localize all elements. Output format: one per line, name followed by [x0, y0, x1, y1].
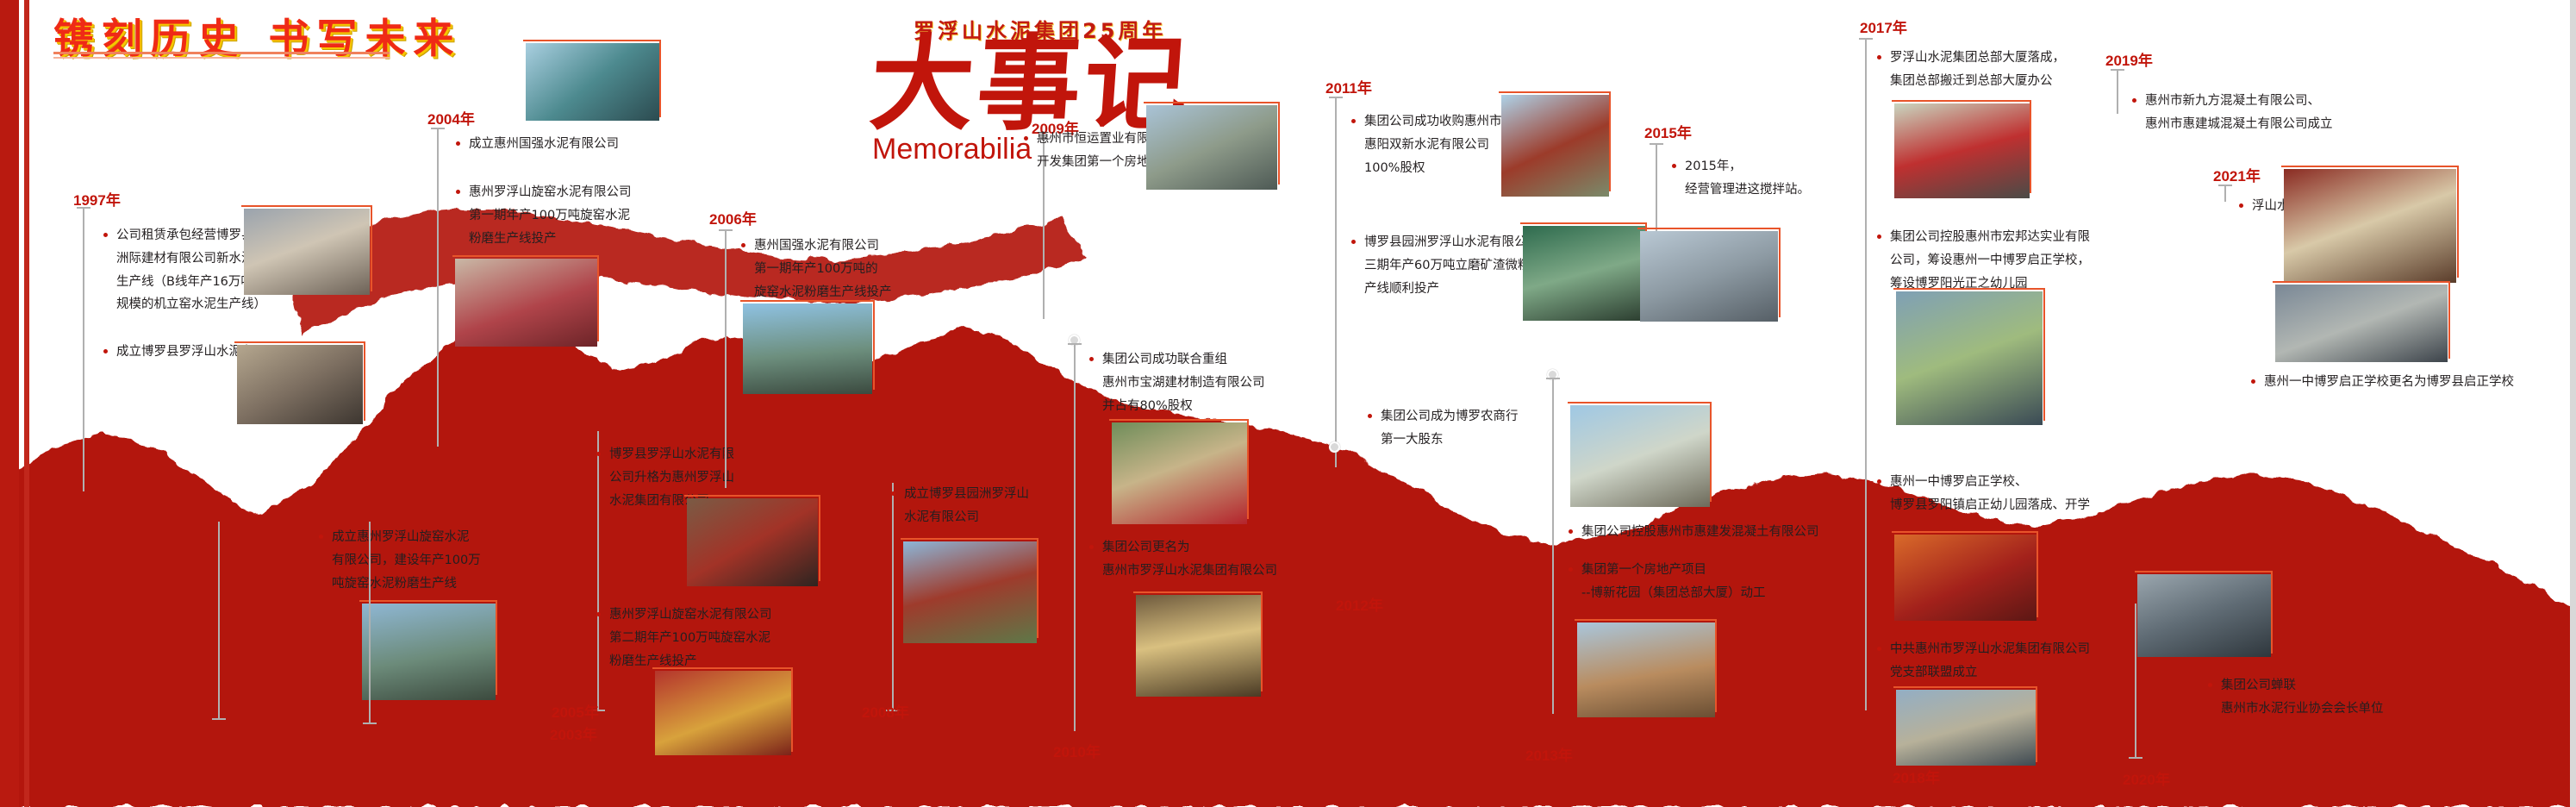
photo-2011-1 — [1523, 226, 1645, 321]
photo-2015-0 — [1640, 231, 1778, 322]
timeline-stem-2003b — [369, 522, 371, 724]
photo-2009-0 — [1146, 105, 1277, 190]
year-label-2021: 2021年 — [2213, 164, 2261, 185]
photo-2009-2 — [1136, 595, 1261, 697]
event-2018-1: 中共惠州市罗浮山水泥集团有限公司 党支部联盟成立 — [1875, 638, 2143, 685]
left-red-bar-inner — [24, 0, 29, 807]
photo-2009-1 — [1112, 422, 1247, 524]
timeline-stem-2009b — [1074, 343, 1076, 731]
photo-2006-0 — [743, 303, 872, 394]
year-label-2019: 2019年 — [2105, 48, 2153, 70]
right-separator — [2570, 0, 2576, 807]
event-2017-0: 罗浮山水泥集团总部大厦落成， 集团总部搬迁到总部大厦办公 — [1875, 47, 2134, 93]
title-english: Memorabilia — [872, 133, 1032, 166]
photo-2004-1 — [455, 259, 597, 347]
timeline-stem-1997 — [83, 207, 84, 491]
event-2008-0: 成立博罗县园洲罗浮山 水泥有限公司 — [889, 483, 1088, 529]
timeline-stem-2013 — [1552, 378, 1554, 714]
year-label-2008: 2008年 — [862, 700, 909, 722]
year-label-2015: 2015年 — [1644, 121, 1692, 142]
photo-2008-0 — [903, 541, 1037, 643]
photo-2011-0 — [1501, 95, 1609, 197]
event-2018-0: 惠州一中博罗启正学校、 博罗县罗阳镇启正幼儿园落成、开学 — [1875, 471, 2134, 517]
photo-2017-0 — [1894, 103, 2030, 198]
timeline-stem-2011 — [1335, 97, 1337, 467]
event-2021-1: 惠州一中博罗启正学校更名为博罗县启正学校 — [2249, 371, 2560, 394]
timeline-stem-2019 — [2117, 69, 2118, 114]
timeline-stem-2017 — [1865, 38, 1867, 710]
timeline-stem-2020 — [2135, 604, 2136, 759]
photo-1997-1 — [237, 345, 363, 424]
photo-2003-0 — [362, 604, 496, 700]
timeline-stem-2004 — [437, 128, 439, 447]
left-red-bar — [0, 0, 19, 807]
photo-2021-1 — [2275, 285, 2448, 362]
event-2004-0: 成立惠州国强水泥有限公司 — [454, 133, 704, 156]
poster-root: 镌刻历史 书写未来 罗浮山水泥集团25周年 大事记 Memorabilia 19… — [0, 0, 2576, 807]
year-label-2020: 2020年 — [2123, 767, 2170, 789]
photo-2005-0 — [687, 498, 818, 586]
year-label-2003: 2003年 — [550, 723, 597, 744]
event-2020-0: 集团公司蝉联 惠州市水泥行业协会会长单位 — [2206, 674, 2465, 721]
photo-2005-1 — [655, 671, 791, 755]
timeline-stem-2021 — [2224, 185, 2226, 202]
headline-rule — [53, 52, 390, 54]
photo-2004-0 — [526, 43, 659, 121]
year-label-2006: 2006年 — [709, 207, 757, 228]
photo-2017-1 — [1896, 291, 2043, 425]
event-2006-0: 惠州国强水泥有限公司 第一期年产100万吨的 旋窑水泥粉磨生产线投产 — [739, 235, 955, 303]
year-label-2011: 2011年 — [1325, 76, 1372, 97]
poster-headline: 镌刻历史 书写未来 — [53, 5, 461, 65]
year-label-2010: 2010年 — [1053, 740, 1101, 761]
event-2017-1: 集团公司控股惠州市宏邦达实业有限 公司，筹设惠州一中博罗启正学校， 筹设博罗阳光… — [1875, 226, 2151, 295]
event-2013-1: 集团第一个房地产项目 --博新花园（集团总部大厦）动工 — [1567, 559, 1851, 605]
photo-2018-1 — [1896, 690, 2036, 766]
event-2009-2: 集团公司更名为 惠州市罗浮山水泥集团有限公司 — [1088, 536, 1346, 583]
year-label-2012: 2012年 — [1336, 593, 1383, 615]
photo-1997-0 — [244, 209, 370, 295]
event-2012-0: 集团公司成为博罗农商行 第一大股东 — [1366, 405, 1564, 452]
year-label-2005: 2005年 — [552, 700, 599, 722]
event-2015-0: 2015年， 经营管理进这搅拌站。 — [1670, 155, 1868, 202]
event-2005-1: 惠州罗浮山旋窑水泥有限公司 第二期年产100万吨旋窑水泥 粉磨生产线投产 — [595, 604, 845, 672]
photo-2018-0 — [1894, 535, 2036, 621]
headline-rule-secondary — [53, 57, 390, 59]
event-2004-1: 惠州罗浮山旋窑水泥有限公司 第一期年产100万吨旋窑水泥 粉磨生产线投产 — [454, 181, 704, 250]
timeline-stem-2006 — [725, 229, 727, 488]
year-label-2017: 2017年 — [1860, 16, 1907, 37]
event-2009-1: 集团公司成功联合重组 惠州市宝湖建材制造有限公司 并占有80%股权 — [1088, 348, 1338, 417]
photo-2013-0 — [1570, 405, 1710, 507]
event-2019-0: 惠州市新九方混凝土有限公司、 惠州市惠建城混凝土有限公司成立 — [2130, 90, 2415, 136]
photo-2021-0 — [2284, 169, 2456, 283]
timeline-node-2012 — [1329, 441, 1340, 453]
timeline-stem-2003 — [218, 522, 220, 720]
photo-2013-1 — [1577, 622, 1715, 717]
year-label-2018: 2018年 — [1893, 766, 1940, 787]
year-label-2013: 2013年 — [1525, 743, 1573, 765]
year-label-2004: 2004年 — [427, 107, 475, 128]
event-2003-0: 成立惠州罗浮山旋窑水泥 有限公司，建设年产100万 吨旋窑水泥粉磨生产线 — [317, 526, 533, 595]
photo-2020-0 — [2137, 574, 2271, 657]
event-2013-0: 集团公司控股惠州市惠建发混凝土有限公司 — [1567, 521, 1868, 544]
